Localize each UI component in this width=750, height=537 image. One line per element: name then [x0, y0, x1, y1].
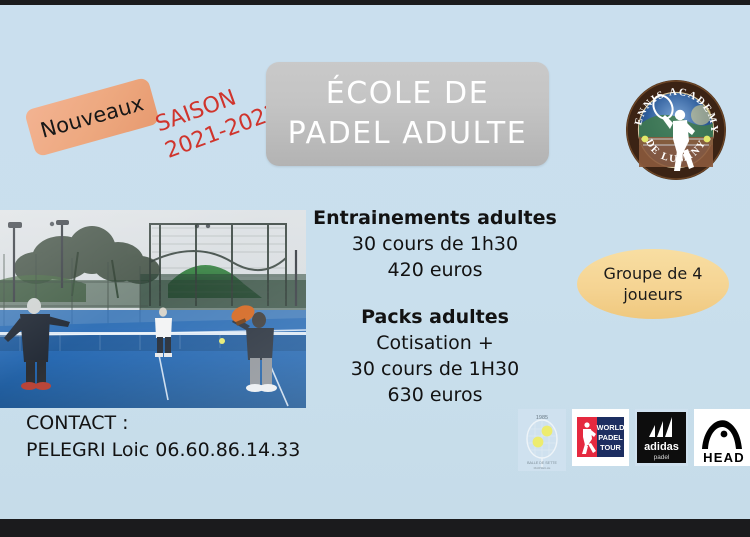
offer-heading-1: Packs adultes: [300, 304, 570, 330]
offers-spacer: [300, 284, 570, 304]
world-padel-tour-logo: WORLD PADEL TOUR: [572, 409, 629, 471]
wpt-line-1: WORLD: [597, 423, 626, 432]
offer-line-1-1: 30 cours de 1H30: [300, 356, 570, 382]
offer-line-0-1: 420 euros: [300, 257, 570, 283]
contact-label: CONTACT :: [26, 410, 300, 437]
adidas-padel-logo: adidas padel: [635, 409, 688, 471]
season-text: SAISON 2021-2022: [152, 72, 284, 165]
wpt-line-2: PADEL: [598, 433, 623, 442]
tennis-academy-de-luminy-logo: TENNIS ACADEMY DE LUMINY: [625, 79, 727, 181]
slide-canvas: Nouveaux SAISON 2021-2022 ÉCOLE DE PADEL…: [0, 5, 750, 519]
offer-line-1-2: 630 euros: [300, 382, 570, 408]
nouveaux-badge-label: Nouveaux: [38, 91, 146, 142]
title-line-1: ÉCOLE DE: [326, 74, 490, 114]
letterbox-bottom: [0, 519, 750, 537]
title-line-2: PADEL ADULTE: [288, 114, 528, 154]
wpt-line-3: TOUR: [600, 443, 621, 452]
group-note-line-2: joueurs: [623, 284, 682, 305]
presentation-slide: Nouveaux SAISON 2021-2022 ÉCOLE DE PADEL…: [0, 0, 750, 537]
nouveaux-badge: Nouveaux: [24, 77, 160, 157]
offer-heading-0: Entrainements adultes: [300, 205, 570, 231]
offer-line-0-0: 30 cours de 1h30: [300, 231, 570, 257]
padel-court-photo: [0, 210, 306, 408]
offer-line-1-0: Cotisation +: [300, 330, 570, 356]
club-crest-caption-1: BALLE DE SETTE: [527, 461, 557, 465]
group-note-callout: Groupe de 4 joueurs: [577, 249, 729, 319]
group-note-line-1: Groupe de 4: [604, 263, 703, 284]
head-logo: HEAD: [694, 409, 750, 471]
contact-block: CONTACT : PELEGRI Loic 06.60.86.14.33: [26, 410, 300, 464]
adidas-wordmark: adidas: [644, 441, 679, 453]
offers-text-block: Entrainements adultes 30 cours de 1h30 4…: [300, 205, 570, 409]
adidas-padel-sub: padel: [654, 454, 670, 461]
sponsor-logo-strip: 1985 BA: [518, 409, 750, 476]
club-crest-logo: 1985 BA: [518, 409, 566, 476]
contact-person: PELEGRI Loic 06.60.86.14.33: [26, 437, 300, 464]
club-crest-caption-2: MARSEILLE: [534, 466, 551, 470]
head-wordmark: HEAD: [703, 450, 745, 465]
title-plaque: ÉCOLE DE PADEL ADULTE: [266, 62, 549, 166]
